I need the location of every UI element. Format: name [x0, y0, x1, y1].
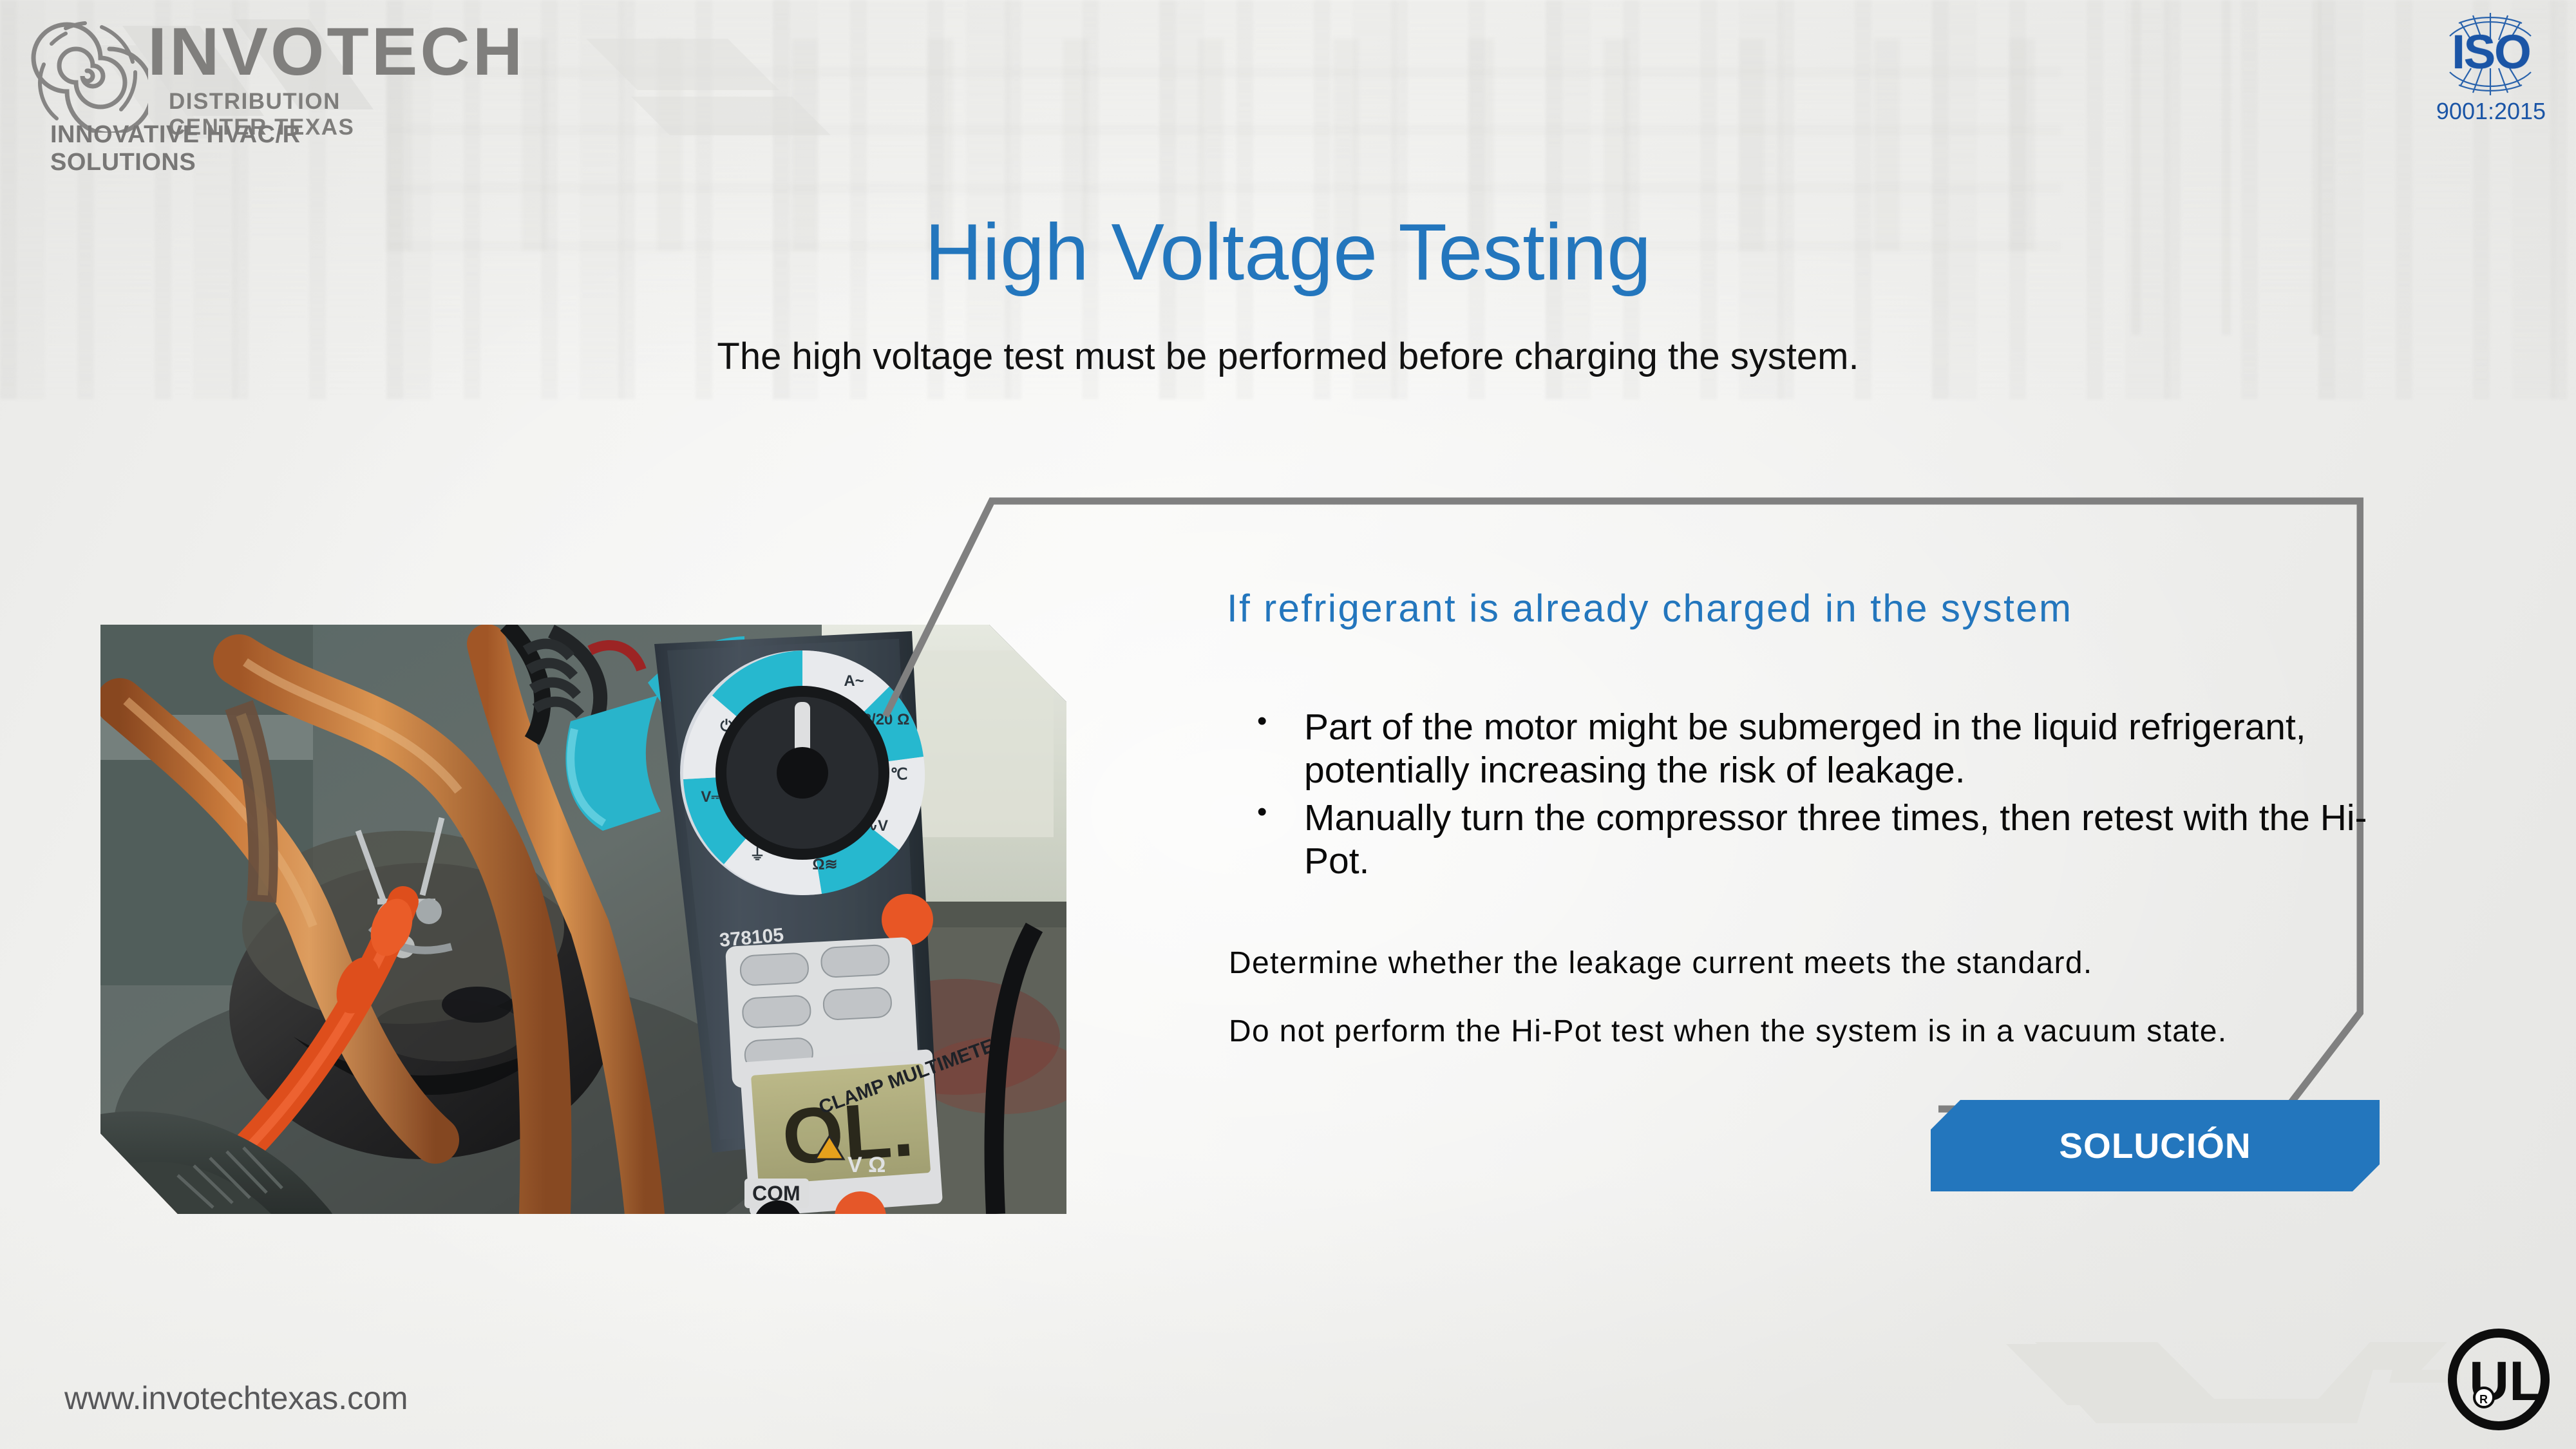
invotech-spiral-icon [26, 17, 148, 133]
ul-certification-mark: UL R [2447, 1328, 2550, 1431]
iso-certification-badge: ISO 9001:2015 [2433, 9, 2549, 131]
callout-bullet-list: Part of the motor might be submerged in … [1217, 706, 2409, 888]
website-url[interactable]: www.invotechtexas.com [64, 1379, 408, 1417]
solucion-button[interactable]: SOLUCIÓN [1931, 1100, 2380, 1191]
callout-note-vacuum: Do not perform the Hi-Pot test when the … [1229, 1014, 2388, 1049]
list-item: Manually turn the compressor three times… [1243, 797, 2409, 882]
company-logo: INVOTECH DISTRIBUTION CENTER TEXAS INNOV… [19, 12, 419, 147]
iso-label: ISO [2433, 28, 2549, 76]
page-subtitle: The high voltage test must be performed … [0, 335, 2576, 378]
logo-wordmark: INVOTECH [147, 18, 525, 86]
callout-heading: If refrigerant is already charged in the… [1227, 586, 2360, 630]
logo-tagline-2: INNOVATIVE HVAC/R SOLUTIONS [50, 121, 419, 176]
list-item: Part of the motor might be submerged in … [1243, 706, 2409, 791]
page-title: High Voltage Testing [0, 213, 2576, 292]
slide-canvas: INVOTECH DISTRIBUTION CENTER TEXAS INNOV… [0, 0, 2576, 1449]
svg-text:R: R [2479, 1393, 2488, 1406]
callout-note-standard: Determine whether the leakage current me… [1229, 945, 2388, 981]
iso-standard-number: 9001:2015 [2433, 98, 2549, 125]
chevron-watermark-bottom-icon [1971, 1309, 2460, 1437]
